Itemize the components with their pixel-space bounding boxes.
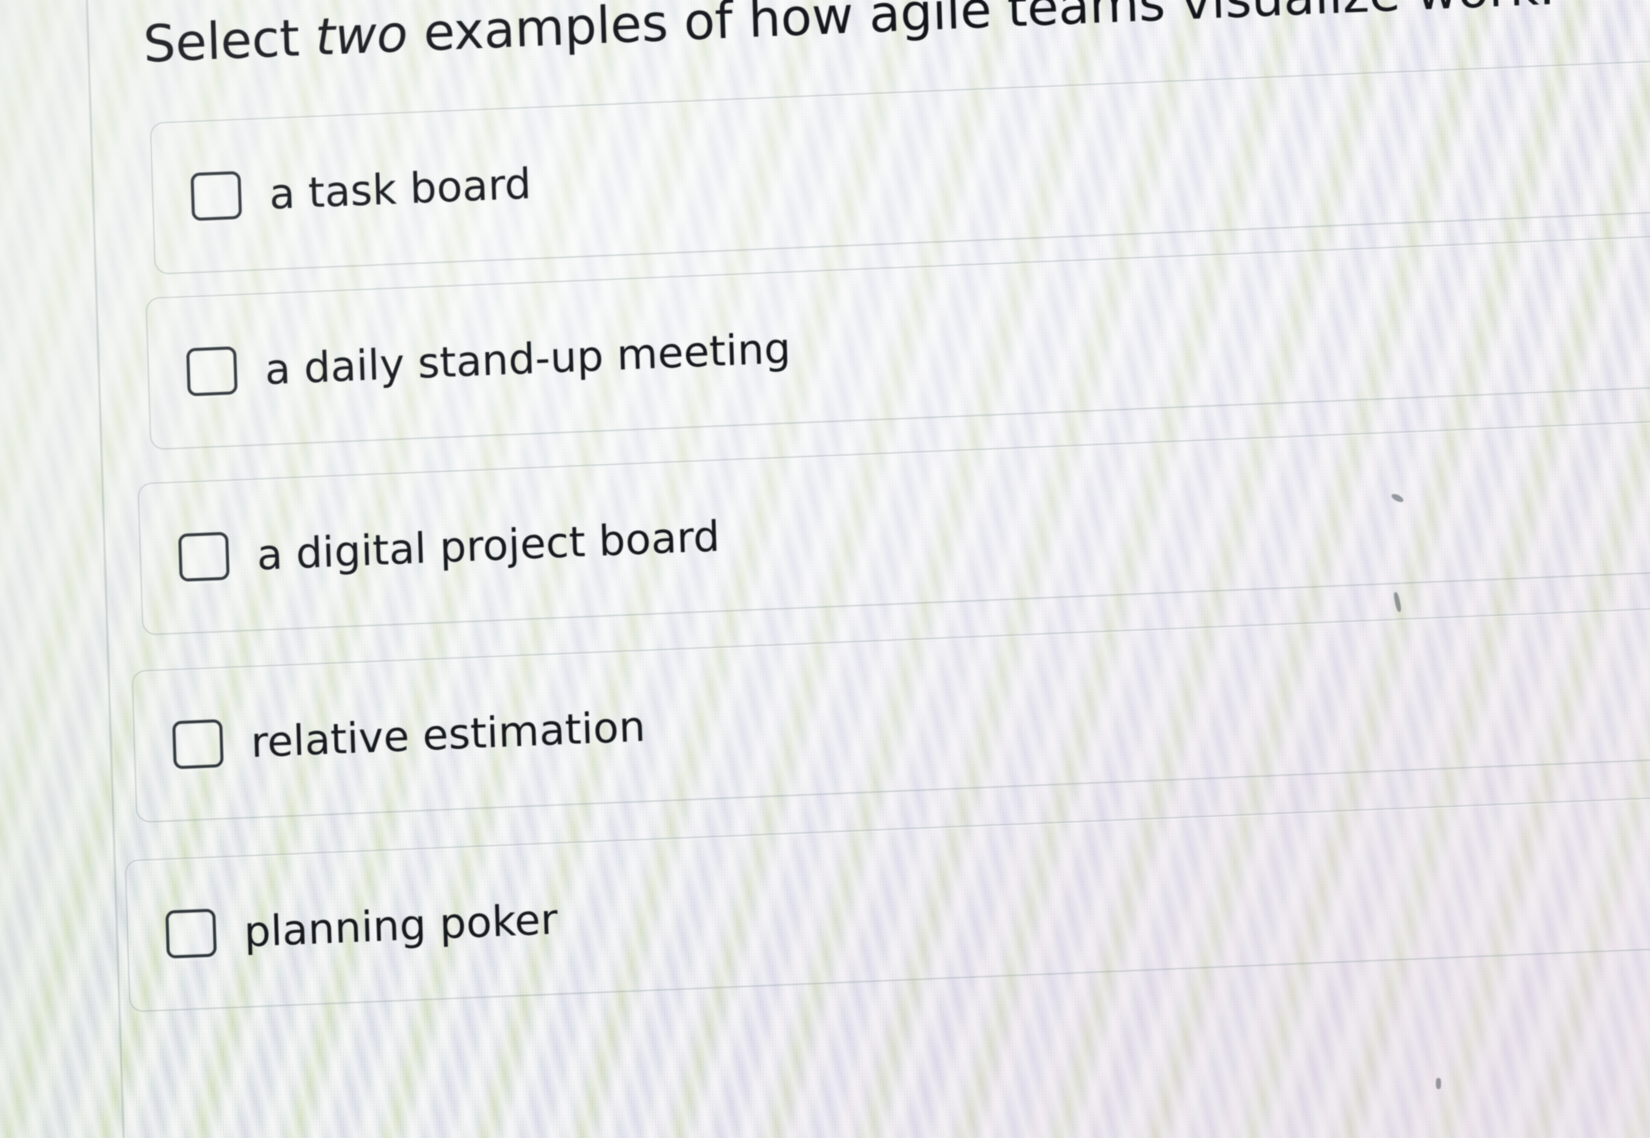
answer-option-label: a task board [268,159,532,219]
checkbox-a-daily-stand-up-meeting[interactable] [186,346,238,396]
checkbox-a-digital-project-board[interactable] [178,532,230,582]
answer-option-content: planning poker [164,844,560,1010]
question-prompt-emphasis: two [314,5,408,68]
photo-smudge-artifact [1436,1078,1441,1089]
screenshot-root: Select two examples of how agile teams v… [0,0,1650,1138]
answer-option-label: planning poker [243,894,558,956]
question-prompt: Select two examples of how agile teams v… [142,0,1555,74]
answer-option-content: a task board [189,108,534,272]
answer-option-content: a daily stand-up meeting [185,273,794,448]
answer-option-row[interactable]: a digital project board [138,415,1650,636]
content-container-edge [85,0,128,1138]
question-prompt-suffix: examples of how agile teams visualize wo… [407,0,1556,64]
answer-option-label: a daily stand-up meeting [264,323,791,394]
answer-option-row[interactable]: a task board [150,54,1650,275]
answer-option-content: relative estimation [171,651,648,820]
quiz-page: Select two examples of how agile teams v… [0,0,1650,1138]
answer-option-row[interactable]: relative estimation [132,602,1650,823]
answer-option-label: relative estimation [250,701,646,766]
checkbox-planning-poker[interactable] [165,909,217,959]
checkbox-a-task-board[interactable] [191,171,243,221]
question-prompt-prefix: Select [142,9,316,75]
answer-option-label: a digital project board [256,511,721,579]
checkbox-relative-estimation[interactable] [172,719,224,769]
answer-option-row[interactable]: planning poker [125,791,1650,1012]
answer-option-content: a digital project board [177,461,723,633]
